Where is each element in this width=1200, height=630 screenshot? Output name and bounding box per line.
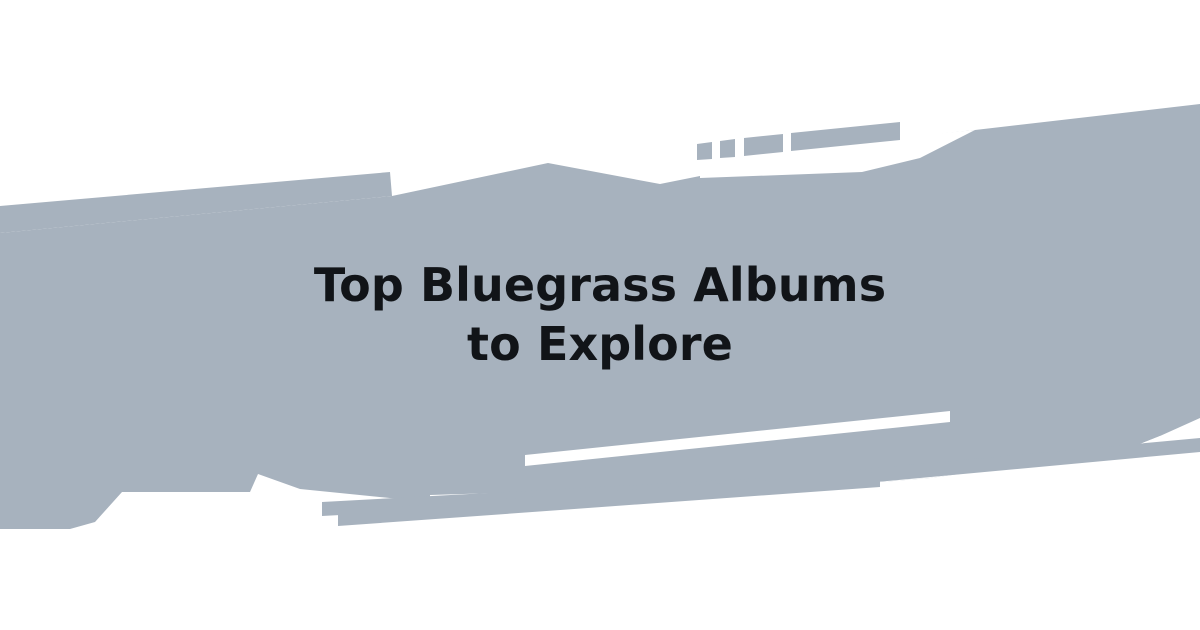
banner-card: Top Bluegrass Albums to Explore [0, 0, 1200, 630]
decor-dash-small-1 [697, 142, 712, 160]
decor-dash-small-2 [720, 139, 735, 158]
banner-background-art [0, 0, 1200, 630]
